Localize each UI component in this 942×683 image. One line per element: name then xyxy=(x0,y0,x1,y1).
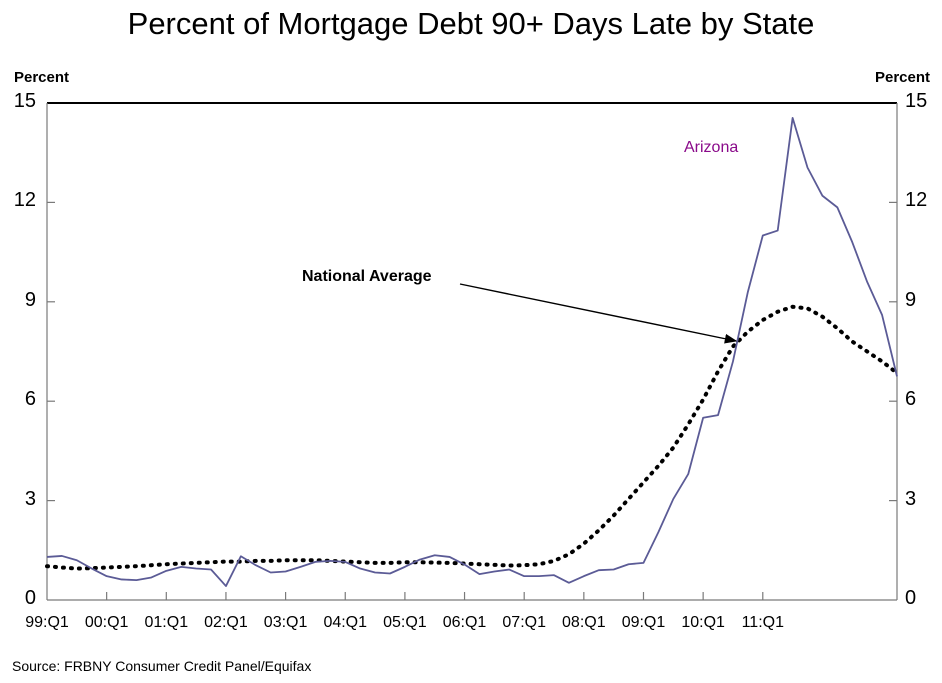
plot-area xyxy=(0,0,942,683)
x-tick-label: 11:Q1 xyxy=(742,614,784,632)
x-tick-label: 01:Q1 xyxy=(145,614,189,632)
x-tick-label: 07:Q1 xyxy=(502,614,546,632)
source-note: Source: FRBNY Consumer Credit Panel/Equi… xyxy=(12,658,311,674)
y-tick-label-right: 3 xyxy=(905,488,939,511)
series-group xyxy=(47,118,897,586)
x-tick-label: 10:Q1 xyxy=(681,614,725,632)
annotation-arrow-group xyxy=(460,284,736,341)
x-tick-label: 05:Q1 xyxy=(383,614,427,632)
y-tick-label-left: 12 xyxy=(2,189,36,212)
y-tick-label-left: 3 xyxy=(2,488,36,511)
x-tick-label: 06:Q1 xyxy=(443,614,487,632)
x-tick-label: 03:Q1 xyxy=(264,614,308,632)
y-tick-label-right: 9 xyxy=(905,289,939,312)
y-tick-label-left: 15 xyxy=(2,90,36,113)
x-tick-label: 08:Q1 xyxy=(562,614,606,632)
y-tick-label-left: 0 xyxy=(2,587,36,610)
axes-group xyxy=(47,103,897,600)
y-tick-label-left: 9 xyxy=(2,289,36,312)
x-tick-label: 00:Q1 xyxy=(85,614,129,632)
x-tick-label: 02:Q1 xyxy=(204,614,248,632)
y-tick-label-right: 6 xyxy=(905,388,939,411)
y-tick-label-left: 6 xyxy=(2,388,36,411)
series-label-national-average: National Average xyxy=(302,268,432,286)
chart-container: Percent of Mortgage Debt 90+ Days Late b… xyxy=(0,0,942,683)
y-tick-label-right: 15 xyxy=(905,90,939,113)
x-tick-label: 99:Q1 xyxy=(25,614,69,632)
x-tick-label: 04:Q1 xyxy=(323,614,367,632)
series-label-arizona: Arizona xyxy=(684,139,738,157)
x-tick-label: 09:Q1 xyxy=(622,614,666,632)
y-tick-label-right: 0 xyxy=(905,587,939,610)
y-tick-label-right: 12 xyxy=(905,189,939,212)
